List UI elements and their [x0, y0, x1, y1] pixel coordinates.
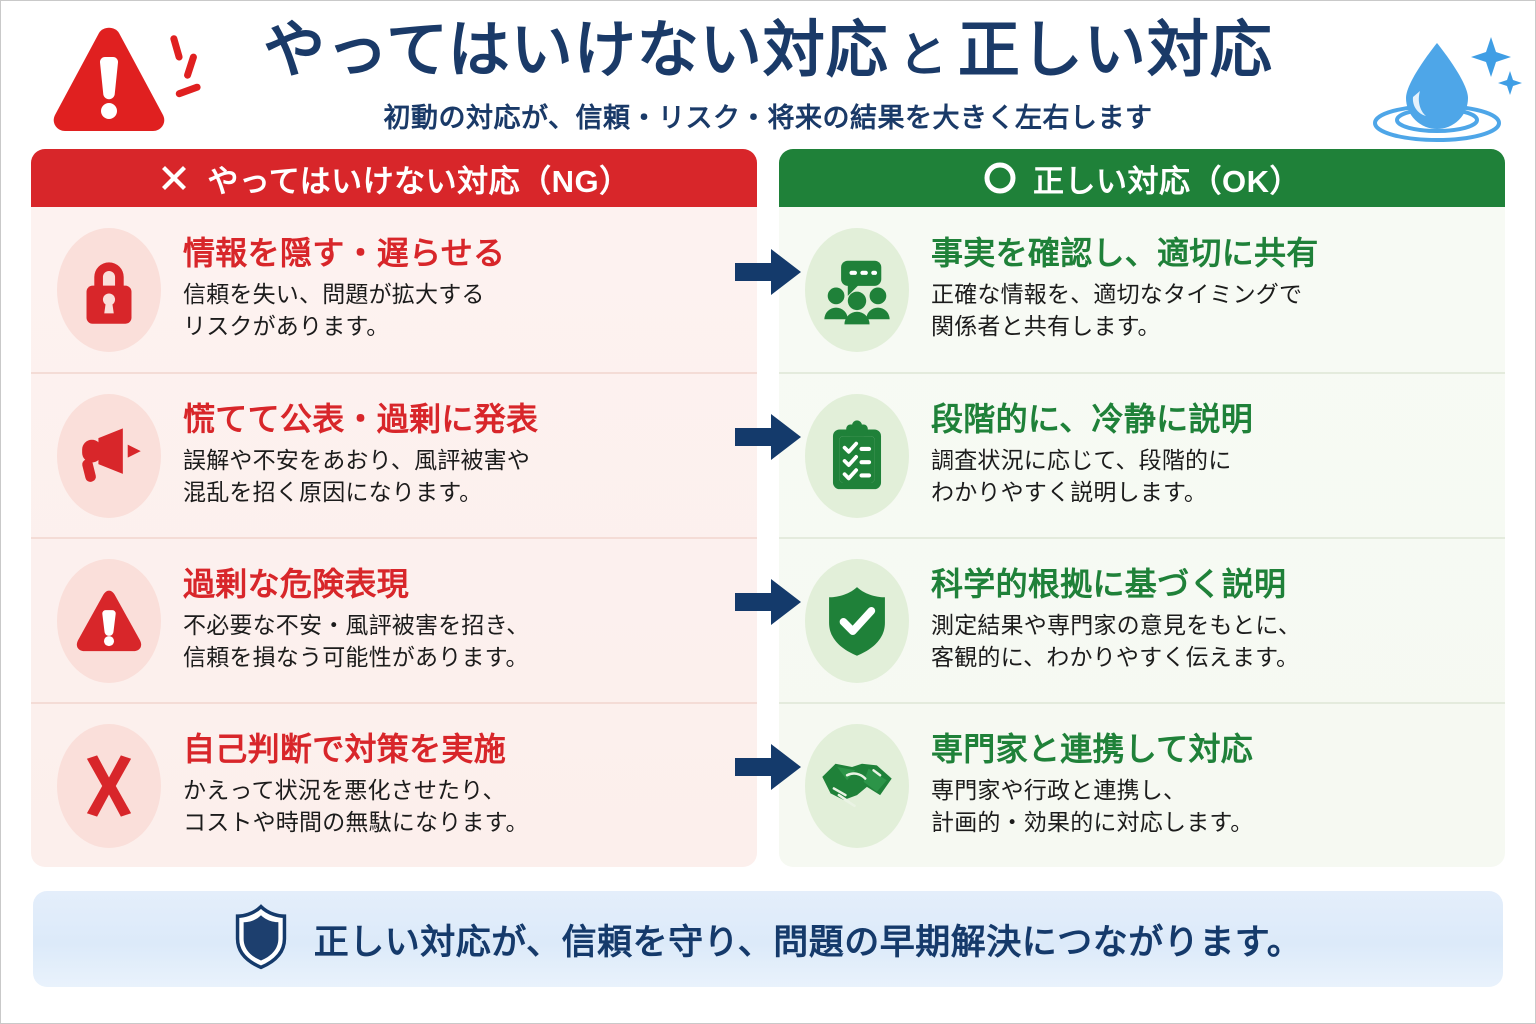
- ok-row-1-texts: 事実を確認し、適切に共有 正確な情報を、適切なタイミングで 関係者と共有します。: [931, 236, 1497, 343]
- ok-row-2[interactable]: 段階的に、冷静に説明 調査状況に応じて、段階的に わかりやすく説明します。: [779, 372, 1505, 537]
- ng-row-4-title: 自己判断で対策を実施: [183, 732, 749, 768]
- ng-row-3-desc-line2: 信頼を損なう可能性があります。: [183, 641, 749, 674]
- ng-row-3-texts: 過剰な危険表現 不必要な不安・風評被害を招き、 信頼を損なう可能性があります。: [183, 567, 749, 674]
- ok-row-4-title: 専門家と連携して対応: [931, 732, 1497, 768]
- title-main: やってはいけない対応: [263, 16, 889, 85]
- ng-row-2-desc-line1: 誤解や不安をあおり、風評被害や: [183, 444, 749, 477]
- ng-row-3-desc-line1: 不必要な不安・風評被害を招き、: [183, 609, 749, 642]
- ok-row-2-texts: 段階的に、冷静に説明 調査状況に応じて、段階的に わかりやすく説明します。: [931, 402, 1497, 509]
- ng-row-1-desc-line1: 信頼を失い、問題が拡大する: [183, 278, 749, 311]
- ng-row-4[interactable]: 自己判断で対策を実施 かえって状況を悪化させたり、 コストや時間の無駄になります…: [31, 702, 757, 867]
- right-arrow-icon: [735, 579, 801, 625]
- page-subtitle: 初動の対応が、信頼・リスク・将来の結果を大きく左右します: [384, 96, 1153, 135]
- ng-column-header: やってはいけない対応（NG）: [31, 149, 757, 207]
- ok-row-1-desc-line1: 正確な情報を、適切なタイミングで: [931, 278, 1497, 311]
- handshake-icon: [805, 724, 909, 848]
- ng-row-2-desc-line2: 混乱を招く原因になります。: [183, 476, 749, 509]
- comparison-columns: やってはいけない対応（NG） 情報を隠す・遅らせる 信頼を失い、: [1, 149, 1535, 867]
- ok-row-1-desc-line2: 関係者と共有します。: [931, 310, 1497, 343]
- circle-mark-icon: [983, 161, 1017, 195]
- ng-row-4-desc-line1: かえって状況を悪化させたり、: [183, 774, 749, 807]
- right-arrow-icon: [735, 414, 801, 460]
- shield-check-icon: [805, 559, 909, 683]
- right-arrow-icon: [735, 249, 801, 295]
- people-speech-icon: [805, 228, 909, 352]
- shield-icon: [234, 904, 288, 975]
- infographic-poster: やってはいけない対応と正しい対応 初動の対応が、信頼・リスク・将来の結果を大きく…: [0, 0, 1536, 1024]
- ok-column: 正しい対応（OK）: [779, 149, 1505, 867]
- water-drop-icon: [1363, 19, 1523, 144]
- ok-row-3-texts: 科学的根拠に基づく説明 測定結果や専門家の意見をもとに、 客観的に、わかりやすく…: [931, 567, 1497, 674]
- ok-row-1-title: 事実を確認し、適切に共有: [931, 236, 1497, 272]
- ok-row-2-desc-line1: 調査状況に応じて、段階的に: [931, 444, 1497, 477]
- padlock-icon: [57, 228, 161, 352]
- ok-rows: 事実を確認し、適切に共有 正確な情報を、適切なタイミングで 関係者と共有します。: [779, 207, 1505, 867]
- ok-row-4-desc-line2: 計画的・効果的に対応します。: [931, 806, 1497, 839]
- footer-message: 正しい対応が、信頼を守り、問題の早期解決につながります。: [314, 914, 1302, 965]
- ng-row-1-desc-line2: リスクがあります。: [183, 310, 749, 343]
- clipboard-checklist-icon: [805, 394, 909, 518]
- ok-row-3-title: 科学的根拠に基づく説明: [931, 567, 1497, 603]
- ok-column-heading-label: 正しい対応（OK）: [1033, 156, 1301, 201]
- header: やってはいけない対応と正しい対応 初動の対応が、信頼・リスク・将来の結果を大きく…: [1, 1, 1535, 149]
- cross-mark-icon: [157, 161, 191, 195]
- ng-row-2[interactable]: 慌てて公表・過剰に発表 誤解や不安をあおり、風評被害や 混乱を招く原因になります…: [31, 372, 757, 537]
- ng-row-3-title: 過剰な危険表現: [183, 567, 749, 603]
- ng-row-4-texts: 自己判断で対策を実施 かえって状況を悪化させたり、 コストや時間の無駄になります…: [183, 732, 749, 839]
- ok-column-header: 正しい対応（OK）: [779, 149, 1505, 207]
- ok-row-4[interactable]: 専門家と連携して対応 専門家や行政と連携し、 計画的・効果的に対応します。: [779, 702, 1505, 867]
- warning-triangle-icon: [57, 559, 161, 683]
- right-arrow-icon: [735, 744, 801, 790]
- ok-row-2-title: 段階的に、冷静に説明: [931, 402, 1497, 438]
- ng-row-1[interactable]: 情報を隠す・遅らせる 信頼を失い、問題が拡大する リスクがあります。: [31, 207, 757, 372]
- x-mark-icon: [57, 724, 161, 848]
- ok-row-4-desc-line1: 専門家や行政と連携し、: [931, 774, 1497, 807]
- ng-row-3[interactable]: 過剰な危険表現 不必要な不安・風評被害を招き、 信頼を損なう可能性があります。: [31, 537, 757, 702]
- warning-triangle-icon: [37, 15, 207, 140]
- ok-row-3[interactable]: 科学的根拠に基づく説明 測定結果や専門家の意見をもとに、 客観的に、わかりやすく…: [779, 537, 1505, 702]
- ok-row-3-desc-line1: 測定結果や専門家の意見をもとに、: [931, 609, 1497, 642]
- ok-row-4-texts: 専門家と連携して対応 専門家や行政と連携し、 計画的・効果的に対応します。: [931, 732, 1497, 839]
- megaphone-icon: [57, 394, 161, 518]
- ng-row-4-desc-line2: コストや時間の無駄になります。: [183, 806, 749, 839]
- title-tail: 正しい対応: [958, 16, 1273, 85]
- page-title: やってはいけない対応と正しい対応: [263, 20, 1273, 82]
- ok-row-1[interactable]: 事実を確認し、適切に共有 正確な情報を、適切なタイミングで 関係者と共有します。: [779, 207, 1505, 372]
- ok-row-2-desc-line2: わかりやすく説明します。: [931, 476, 1497, 509]
- ng-column: やってはいけない対応（NG） 情報を隠す・遅らせる 信頼を失い、: [31, 149, 757, 867]
- ng-row-1-title: 情報を隠す・遅らせる: [183, 236, 749, 272]
- ng-column-heading-label: やってはいけない対応（NG）: [207, 156, 630, 201]
- ng-rows: 情報を隠す・遅らせる 信頼を失い、問題が拡大する リスクがあります。: [31, 207, 757, 867]
- footer-banner: 正しい対応が、信頼を守り、問題の早期解決につながります。: [33, 891, 1503, 987]
- ng-row-2-texts: 慌てて公表・過剰に発表 誤解や不安をあおり、風評被害や 混乱を招く原因になります…: [183, 402, 749, 509]
- ng-row-1-texts: 情報を隠す・遅らせる 信頼を失い、問題が拡大する リスクがあります。: [183, 236, 749, 343]
- ok-row-3-desc-line2: 客観的に、わかりやすく伝えます。: [931, 641, 1497, 674]
- title-conjunction: と: [889, 29, 958, 82]
- ng-row-2-title: 慌てて公表・過剰に発表: [183, 402, 749, 438]
